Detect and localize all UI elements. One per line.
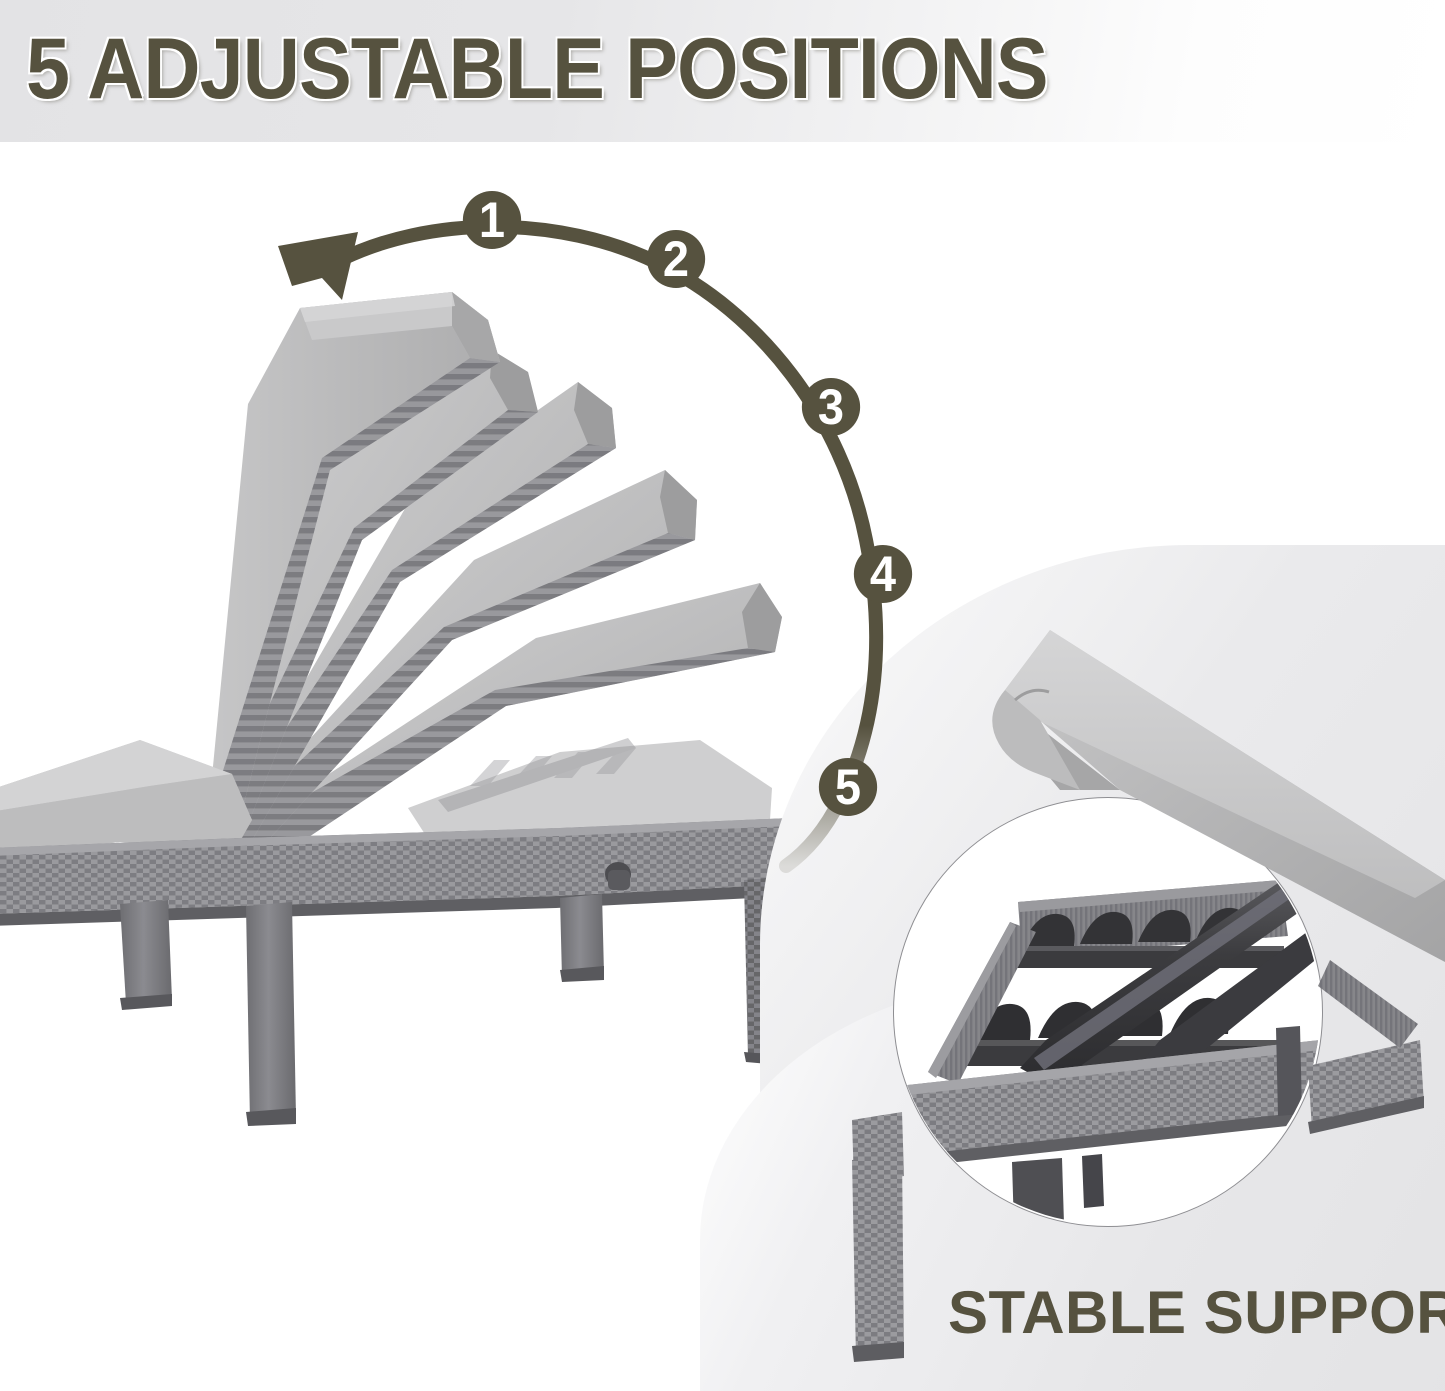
position-badge-1: 1 <box>463 191 521 249</box>
arrow-left-icon <box>278 232 358 300</box>
position-badge-4: 4 <box>854 545 912 603</box>
stable-support-caption: STABLE SUPPORT <box>948 1281 1445 1345</box>
position-badge-5: 5 <box>819 758 877 816</box>
position-badge-3: 3 <box>802 378 860 436</box>
arc-path <box>336 227 876 866</box>
position-badge-2: 2 <box>647 230 705 288</box>
infographic-root: 5 ADJUSTABLE POSITIONS <box>0 0 1445 1391</box>
position-arc <box>0 0 1445 1391</box>
